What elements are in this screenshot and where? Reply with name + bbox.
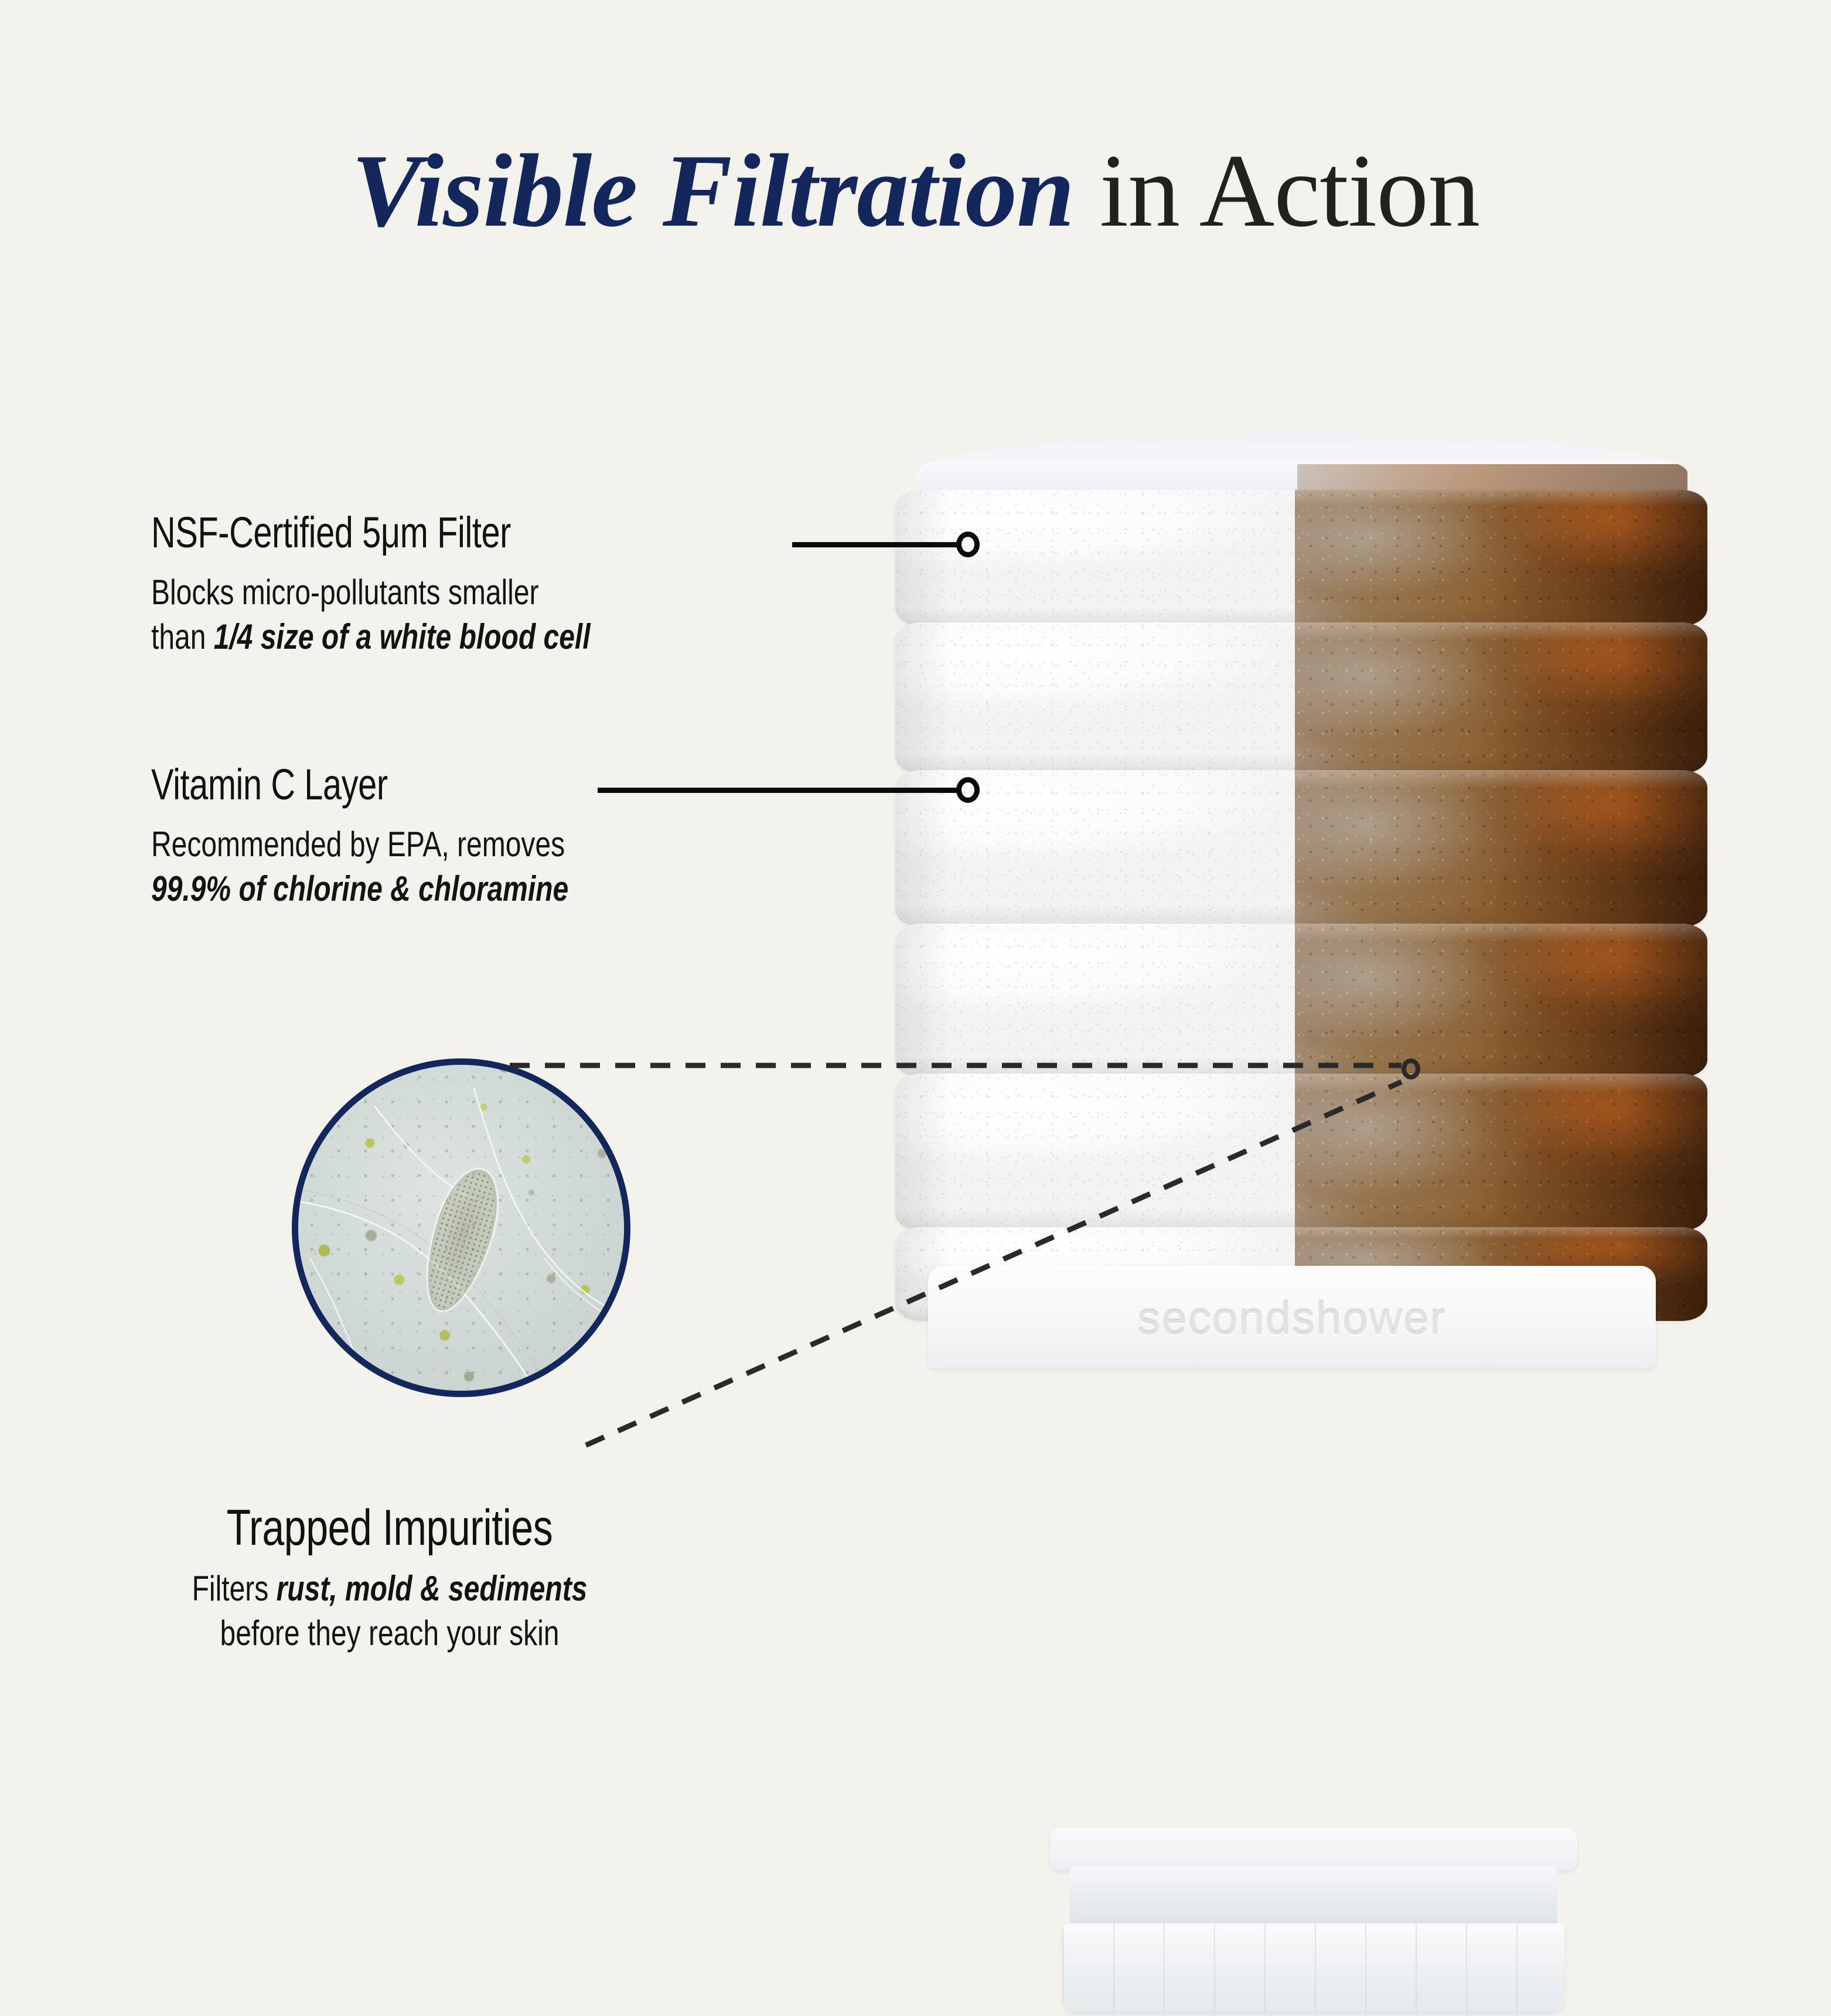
filter-band-dirty-half [1295,622,1707,774]
callout-trapped-impurities: Trapped Impurities Filters rust, mold & … [0,1499,779,1656]
callout-heading: Trapped Impurities [82,1499,698,1557]
cartridge-bottom-cap: secondshower [928,1266,1656,1368]
callout-body: Recommended by EPA, removes 99.9% of chl… [151,822,568,911]
zoom-origin-marker-icon [1402,1058,1420,1079]
leader-line-filter [792,542,961,547]
callout-body: Blocks micro-pollutants smaller than 1/4… [151,570,591,659]
callout-nsf-filter: NSF-Certified 5μm Filter Blocks micro-po… [151,508,700,659]
leader-endpoint-filter-icon [956,532,980,557]
filter-cartridge: secondshower [895,434,1707,1395]
filter-band-clean-half [895,490,1295,626]
filter-band-dirty-half [1295,490,1707,626]
cartridge-threaded-base [1050,1828,1577,2016]
filter-band [895,770,1707,927]
base-collar [1070,1867,1557,1928]
filter-band-dirty-half [1295,770,1707,927]
title-emphasis: Visible Filtration [352,132,1074,248]
callout-vitamin-c: Vitamin C Layer Recommended by EPA, remo… [151,760,673,911]
leader-endpoint-vitamin-c-icon [956,777,980,803]
filter-band [895,622,1707,774]
brand-emboss-label: secondshower [928,1292,1656,1346]
callout-body-line1: Blocks micro-pollutants smaller [151,573,539,612]
callout-body-line2-plain: than [151,617,214,656]
title-rest: in Action [1074,132,1479,248]
filter-band-clean-half [895,770,1295,927]
callout-body-line1-emphasis: rust, mold & sediments [277,1569,588,1608]
callout-body-line2-emphasis: 1/4 size of a white blood cell [214,617,591,656]
infographic-canvas: Visible Filtration in Action [0,0,1831,1831]
base-flange [1050,1828,1577,1871]
page-title: Visible Filtration in Action [0,138,1831,243]
filter-band-clean-half [895,622,1295,774]
filter-band [895,490,1707,626]
callout-heading: Vitamin C Layer [151,760,558,809]
callout-body-line1: Recommended by EPA, removes [151,825,565,864]
filter-band-clean-half [895,924,1295,1077]
callout-body-line2: before they reach your skin [220,1613,560,1653]
filter-band-dirty-half [1295,924,1707,1077]
callout-heading: NSF-Certified 5μm Filter [151,508,579,557]
filter-band [895,924,1707,1077]
callout-body: Filters rust, mold & sediments before th… [78,1567,701,1656]
filter-band [895,1074,1707,1231]
callout-body-line2-emphasis: 99.9% of chlorine & chloramine [151,869,568,908]
microscope-zoom-circle [292,1058,630,1397]
callout-body-line1-plain: Filters [192,1569,277,1608]
filter-band-clean-half [895,1074,1295,1231]
filter-band-dirty-half [1295,1074,1707,1231]
base-threads [1063,1923,1564,2012]
